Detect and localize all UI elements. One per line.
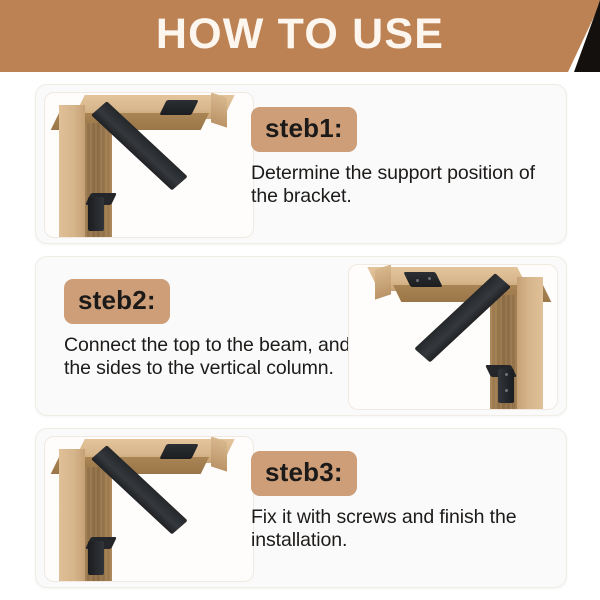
- bracket-top-plate: [403, 272, 442, 287]
- step-1-description: Determine the support position of the br…: [251, 162, 551, 208]
- screw-icon: [505, 373, 508, 376]
- step-2-badge: steb2:: [64, 279, 170, 324]
- page-title: HOW TO USE: [0, 0, 600, 68]
- step-3-text-block: steb3: Fix it with screws and finish the…: [251, 451, 551, 552]
- wood-beam-end-cap: [375, 264, 391, 299]
- step-1-image: [44, 92, 254, 238]
- step-2-image: [348, 264, 558, 410]
- screw-icon: [416, 279, 419, 282]
- wood-beam-end-cap: [211, 436, 227, 471]
- bracket-illustration: [45, 437, 253, 581]
- screw-icon: [428, 277, 431, 280]
- step-1-text-block: steb1: Determine the support position of…: [251, 107, 551, 208]
- page-header: HOW TO USE: [0, 0, 600, 72]
- bracket-bottom-flange: [88, 197, 104, 231]
- how-to-use-page: HOW TO USE steb1:: [0, 0, 600, 600]
- step-2-description: Connect the top to the beam, and the sid…: [64, 334, 364, 380]
- step-row: steb1: Determine the support position of…: [36, 85, 566, 243]
- wood-post-outer: [517, 277, 543, 409]
- wood-post-outer: [59, 449, 85, 581]
- step-card-3: steb3: Fix it with screws and finish the…: [35, 428, 567, 588]
- step-card-2: steb2: Connect the top to the beam, and …: [35, 256, 567, 416]
- wood-post-outer: [59, 105, 85, 237]
- step-3-description: Fix it with screws and finish the instal…: [251, 506, 551, 552]
- step-3-badge: steb3:: [251, 451, 357, 496]
- step-1-badge: steb1:: [251, 107, 357, 152]
- screw-icon: [505, 389, 508, 392]
- step-2-text-block: steb2: Connect the top to the beam, and …: [64, 279, 364, 380]
- step-row: steb2: Connect the top to the beam, and …: [36, 257, 566, 415]
- bracket-bottom-flange: [88, 541, 104, 575]
- step-card-1: steb1: Determine the support position of…: [35, 84, 567, 244]
- step-row: steb3: Fix it with screws and finish the…: [36, 429, 566, 587]
- bracket-illustration: [349, 265, 557, 409]
- step-3-image: [44, 436, 254, 582]
- wood-beam-end-cap: [211, 92, 227, 127]
- bracket-illustration: [45, 93, 253, 237]
